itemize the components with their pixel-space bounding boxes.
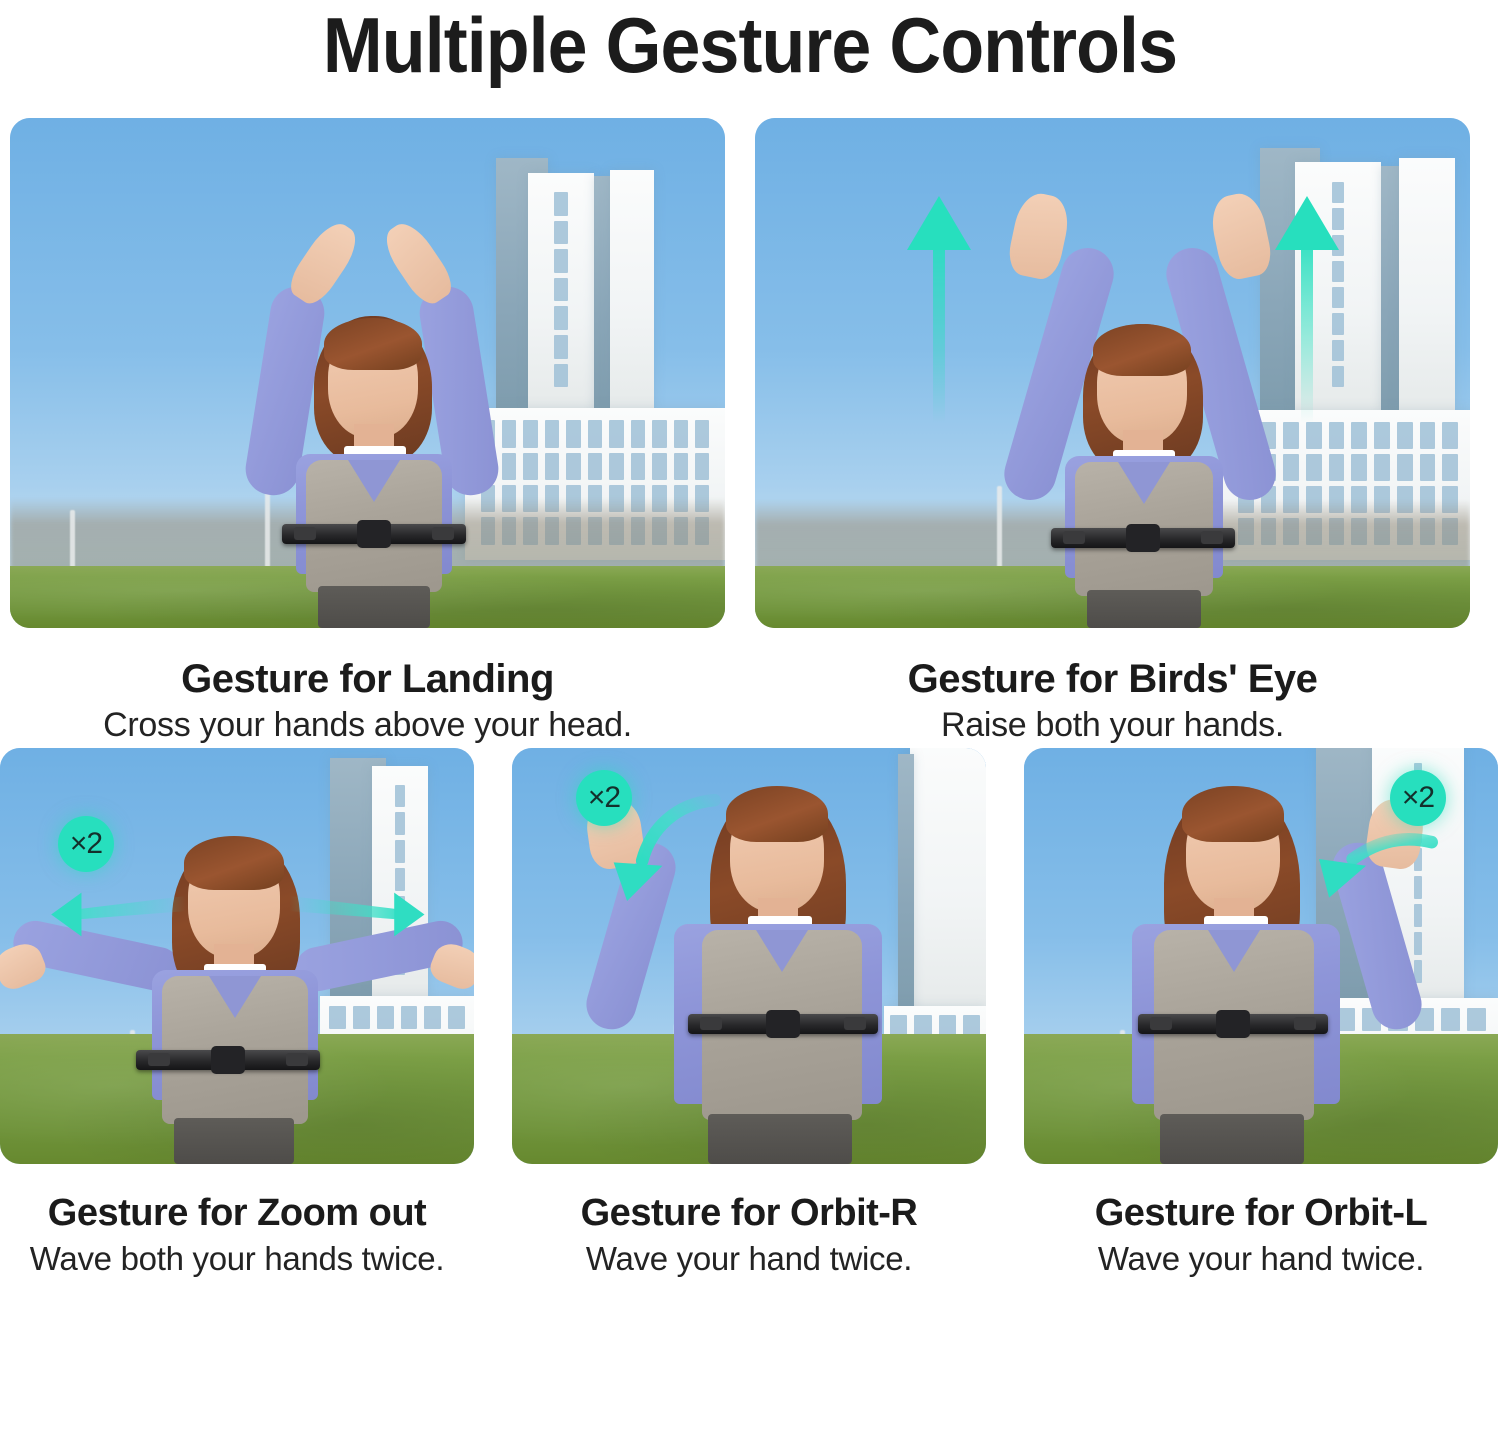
window	[554, 278, 568, 302]
window	[502, 453, 516, 480]
vest-v-neck	[756, 930, 808, 972]
window	[1414, 932, 1423, 955]
window	[448, 1006, 465, 1028]
window	[1351, 422, 1367, 449]
skirt	[1160, 1114, 1304, 1164]
drone-body	[211, 1046, 245, 1074]
window	[1306, 422, 1322, 449]
window	[1414, 904, 1423, 927]
caption-subtitle: Wave both your hands twice.	[0, 1234, 474, 1278]
gesture-row-bottom: ×2 Gesture for Zoom out Wave both your h…	[0, 748, 1500, 1278]
window	[1397, 422, 1413, 449]
caption-title: Gesture for Orbit-R	[512, 1194, 986, 1234]
window	[1374, 454, 1390, 481]
caption-title: Gesture for Birds' Eye	[755, 658, 1470, 700]
window	[1441, 1008, 1460, 1031]
window	[588, 453, 602, 480]
window	[1332, 340, 1344, 361]
window	[695, 420, 709, 447]
hand-left	[283, 216, 364, 310]
vest-v-neck	[209, 976, 261, 1018]
window	[963, 1015, 980, 1035]
window	[939, 1015, 956, 1035]
hair-top	[324, 318, 422, 370]
person-figure	[88, 804, 388, 1164]
window	[1420, 454, 1436, 481]
building-tower	[1295, 162, 1381, 412]
vest-v-neck	[1118, 462, 1170, 504]
skirt	[708, 1114, 852, 1164]
person-figure	[1108, 764, 1408, 1164]
caption-subtitle: Wave your hand twice.	[512, 1234, 986, 1278]
vest-v-neck	[1208, 930, 1260, 972]
drone-device	[136, 1050, 320, 1070]
gesture-photo-birds-eye	[755, 118, 1470, 628]
drone-body	[357, 520, 391, 548]
window	[1283, 454, 1299, 481]
window	[1442, 454, 1458, 481]
hair-top	[726, 786, 828, 842]
vest-v-neck	[348, 460, 400, 502]
window	[554, 249, 568, 273]
gesture-card-zoom-out[interactable]: ×2 Gesture for Zoom out Wave both your h…	[0, 748, 474, 1278]
building-glass-stripe	[1381, 166, 1401, 412]
drone-device	[282, 524, 466, 544]
window	[554, 221, 568, 245]
gesture-card-orbit-r[interactable]: ×2 Gesture for Orbit-R Wave your hand tw…	[512, 748, 986, 1278]
drone-body	[766, 1010, 800, 1038]
window	[674, 453, 688, 480]
window	[609, 420, 623, 447]
caption-birds-eye: Gesture for Birds' Eye Raise both your h…	[755, 628, 1470, 745]
window	[395, 785, 404, 808]
window	[523, 420, 537, 447]
window	[566, 420, 580, 447]
gesture-row-top: Gesture for Landing Cross your hands abo…	[0, 118, 1500, 748]
skirt	[318, 586, 430, 628]
window	[1442, 422, 1458, 449]
person-figure	[602, 764, 902, 1164]
window	[1332, 313, 1344, 334]
caption-orbit-l: Gesture for Orbit-L Wave your hand twice…	[1024, 1164, 1498, 1278]
window	[1332, 366, 1344, 387]
window	[674, 420, 688, 447]
window	[1467, 1008, 1486, 1031]
gesture-photo-orbit-r: ×2	[512, 748, 986, 1164]
window	[1414, 763, 1423, 786]
caption-title: Gesture for Zoom out	[0, 1194, 474, 1234]
light-pole	[997, 486, 1002, 570]
window	[1329, 422, 1345, 449]
building-slab	[1399, 158, 1455, 412]
window	[695, 453, 709, 480]
window	[554, 306, 568, 330]
window	[1332, 261, 1344, 282]
window	[395, 812, 404, 835]
window	[502, 420, 516, 447]
building-window-grid	[532, 192, 590, 387]
caption-subtitle: Cross your hands above your head.	[10, 700, 725, 745]
caption-subtitle: Wave your hand twice.	[1024, 1234, 1498, 1278]
caption-landing: Gesture for Landing Cross your hands abo…	[10, 628, 725, 745]
skirt	[174, 1118, 294, 1164]
window	[1420, 422, 1436, 449]
drone-device	[1051, 528, 1235, 548]
person-figure	[240, 208, 500, 628]
window	[1332, 235, 1344, 256]
caption-subtitle: Raise both your hands.	[755, 700, 1470, 745]
drone-body	[1216, 1010, 1250, 1038]
caption-orbit-r: Gesture for Orbit-R Wave your hand twice…	[512, 1164, 986, 1278]
window	[545, 420, 559, 447]
gesture-card-orbit-l[interactable]: ×2 Gesture for Orbit-L Wave your hand tw…	[1024, 748, 1498, 1278]
window	[1351, 454, 1367, 481]
gesture-photo-orbit-l: ×2	[1024, 748, 1498, 1164]
window	[1332, 208, 1344, 229]
window	[395, 868, 404, 891]
gesture-photo-landing	[10, 118, 725, 628]
window	[1332, 287, 1344, 308]
caption-title: Gesture for Orbit-L	[1024, 1194, 1498, 1234]
hair-top	[1093, 324, 1191, 376]
window	[554, 364, 568, 388]
drone-body	[1126, 524, 1160, 552]
page-title: Multiple Gesture Controls	[60, 0, 1440, 118]
caption-zoom-out: Gesture for Zoom out Wave both your hand…	[0, 1164, 474, 1278]
window	[523, 453, 537, 480]
drone-device	[688, 1014, 878, 1034]
window	[1329, 454, 1345, 481]
window	[1414, 876, 1423, 899]
window	[1374, 422, 1390, 449]
hair-top	[1182, 786, 1284, 842]
building-tower	[910, 748, 986, 1012]
window	[545, 453, 559, 480]
window	[554, 192, 568, 216]
caption-title: Gesture for Landing	[10, 658, 725, 700]
skirt	[1087, 590, 1201, 628]
light-pole	[70, 510, 75, 568]
window	[395, 840, 404, 863]
building-slab	[610, 170, 654, 412]
window	[401, 1006, 418, 1028]
window	[424, 1006, 441, 1028]
building-tower	[528, 173, 594, 411]
window	[395, 896, 404, 919]
window	[652, 453, 666, 480]
window	[1397, 454, 1413, 481]
hair-top	[184, 836, 284, 890]
window	[609, 453, 623, 480]
window	[1332, 182, 1344, 203]
gesture-photo-zoom-out: ×2	[0, 748, 474, 1164]
person-figure	[1003, 198, 1275, 628]
window	[652, 420, 666, 447]
gesture-card-landing[interactable]: Gesture for Landing Cross your hands abo…	[10, 118, 725, 748]
building-window-grid	[1300, 182, 1376, 387]
window	[566, 453, 580, 480]
window	[554, 335, 568, 359]
window	[631, 420, 645, 447]
window	[1283, 422, 1299, 449]
gesture-card-birds-eye[interactable]: Gesture for Birds' Eye Raise both your h…	[755, 118, 1470, 748]
window	[631, 453, 645, 480]
window	[1306, 454, 1322, 481]
window	[914, 1015, 931, 1035]
window	[588, 420, 602, 447]
drone-device	[1138, 1014, 1328, 1034]
